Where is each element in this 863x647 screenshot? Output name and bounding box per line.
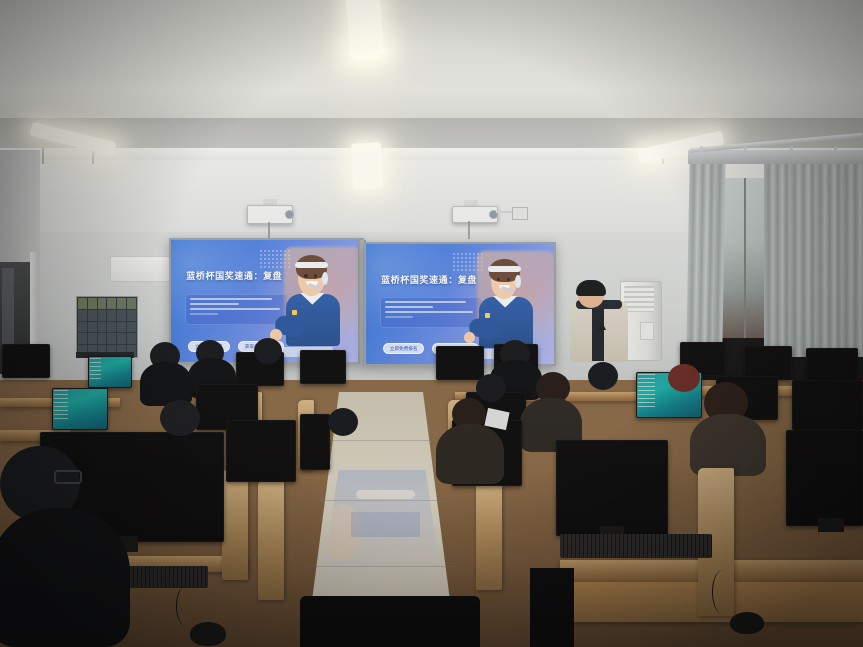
mouse-cable — [176, 586, 195, 626]
monitor — [300, 350, 346, 384]
monitor — [52, 388, 108, 430]
mouse[interactable] — [730, 612, 764, 634]
monitor — [2, 344, 50, 378]
mouse-cable — [712, 570, 733, 614]
monitor-stand — [818, 518, 844, 532]
projector-cable-1 — [268, 222, 270, 238]
floor-slide-reflection — [318, 470, 446, 610]
student-head — [254, 338, 282, 364]
light-hanger-2 — [42, 148, 44, 164]
ceiling-light-1-end — [352, 46, 380, 60]
light-hanger-2b — [92, 150, 94, 164]
curtain-right[interactable] — [764, 152, 863, 357]
curtain-hook — [834, 146, 837, 154]
monitor — [88, 356, 132, 388]
monitor — [556, 440, 668, 536]
keyboard[interactable] — [560, 534, 712, 558]
curtain-left[interactable] — [686, 162, 725, 347]
monitor — [300, 414, 330, 470]
foreground-divider-shadow — [530, 568, 574, 647]
desk-divider — [258, 480, 284, 600]
presenter-jacket-placket — [592, 303, 604, 361]
presenter-hair — [576, 280, 606, 296]
student-body — [140, 362, 192, 406]
desk-divider — [222, 470, 248, 580]
eyeglasses — [54, 470, 82, 484]
ac-control-panel[interactable] — [640, 322, 654, 340]
tile-seam — [318, 440, 446, 441]
monitor — [786, 430, 863, 526]
curtain-hook — [700, 146, 703, 154]
ceiling-light-3 — [351, 142, 383, 190]
desk-divider — [476, 472, 502, 590]
student-body — [436, 424, 504, 484]
student-head-red-hair — [668, 364, 700, 392]
slide-illustration — [268, 245, 356, 362]
projector-lens-1 — [285, 210, 294, 219]
classroom-camera — [512, 207, 528, 220]
student-head — [160, 400, 200, 436]
ac-vent — [624, 286, 654, 312]
projector-cable-2 — [468, 221, 470, 239]
monitor — [226, 420, 296, 482]
window-mullion — [744, 178, 746, 338]
wall-panel — [110, 256, 172, 282]
student-head — [476, 374, 506, 402]
monitor — [792, 380, 863, 430]
foreground-chair — [300, 596, 480, 647]
student-body-foreground — [0, 508, 130, 647]
monitor — [436, 346, 484, 380]
mouse[interactable] — [190, 622, 226, 646]
student-head — [328, 408, 358, 436]
slide-button-signup: 立即免费报名 — [383, 343, 425, 354]
monitor — [744, 346, 792, 380]
seat-chart-poster — [76, 296, 138, 358]
student-head — [588, 362, 618, 390]
curtain-hook — [790, 146, 793, 154]
student-body — [690, 414, 766, 476]
classroom-photo: 蓝桥杯国奖速通：复盘 立即免费报名 获取备赛资料包 — [0, 0, 863, 647]
curtain-hook — [744, 146, 747, 154]
